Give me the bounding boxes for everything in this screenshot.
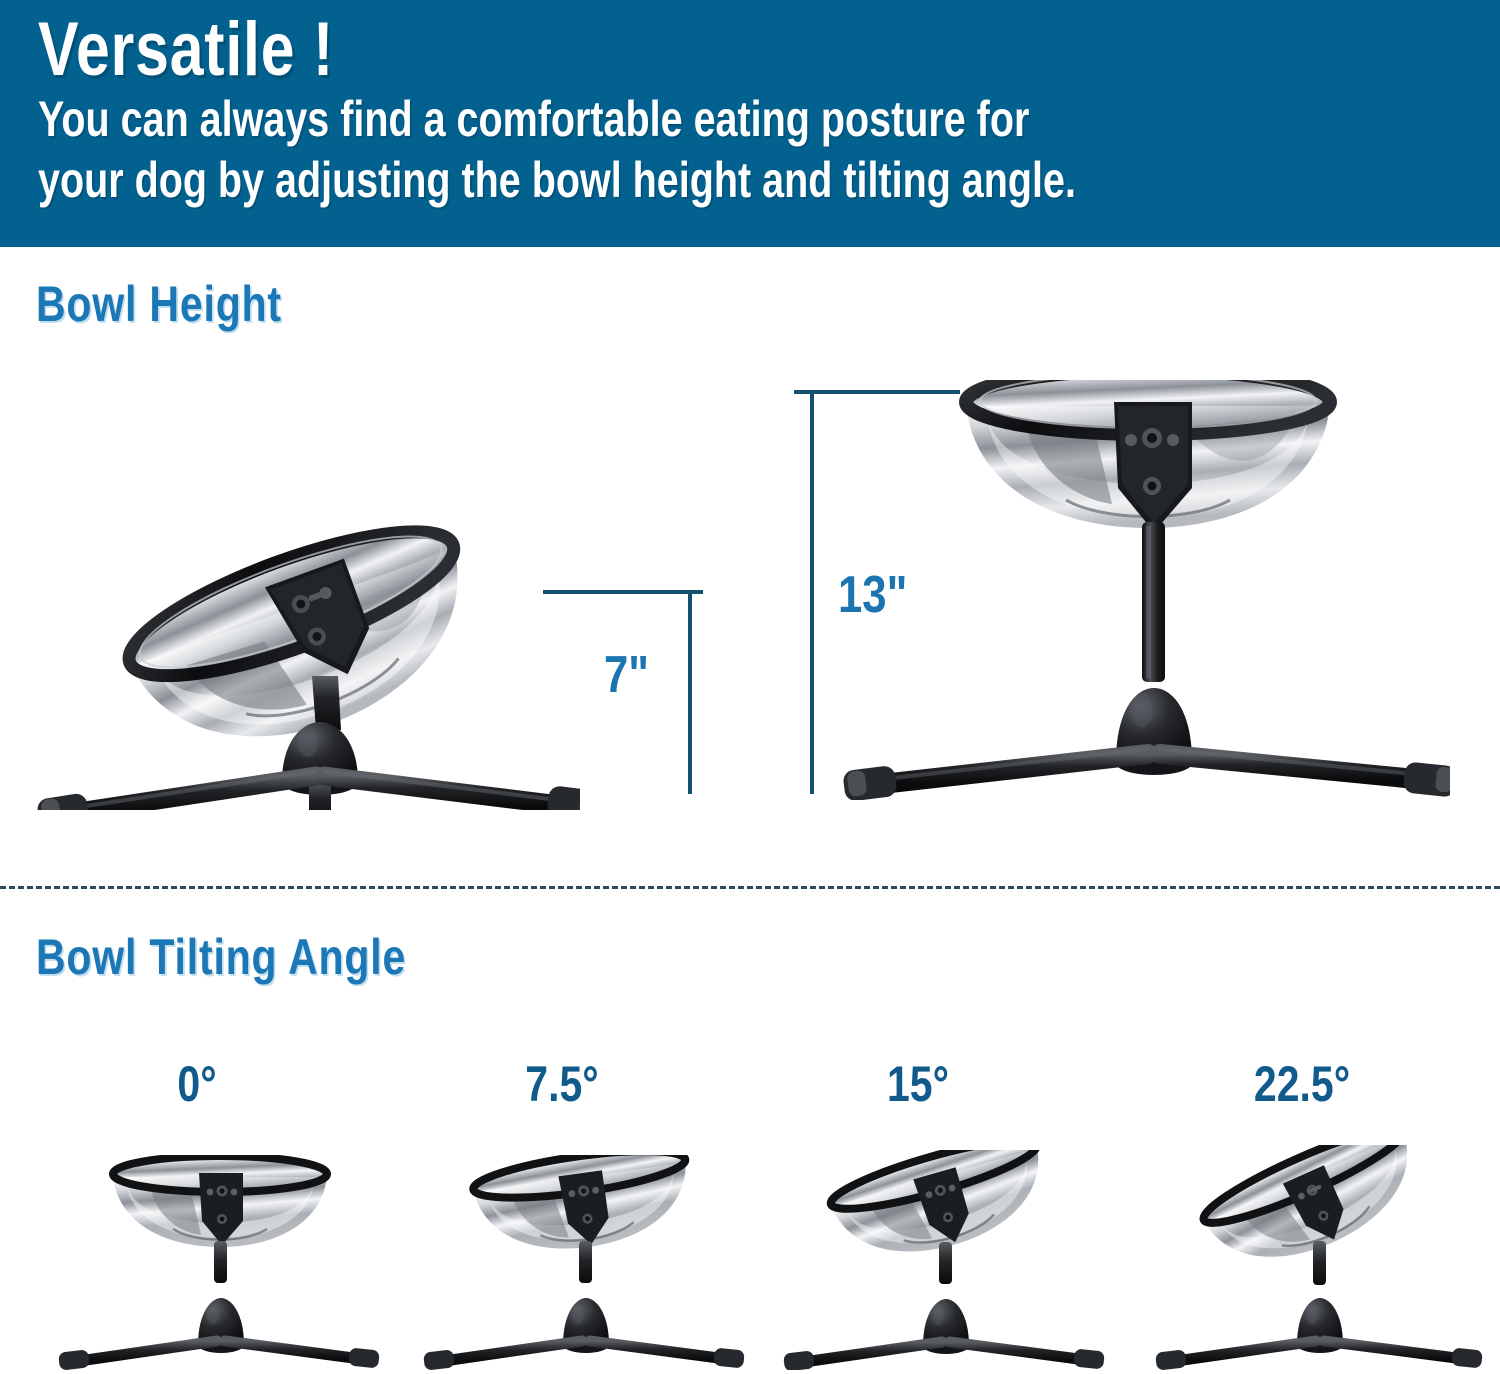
header-banner: Versatile ! You can always find a comfor…	[0, 0, 1500, 247]
tilt-figure-22-5deg	[1150, 1145, 1490, 1370]
bowl-stand-low-figure	[20, 430, 580, 810]
bowl-stand-high-figure	[830, 380, 1450, 800]
header-subtitle-line-1: You can always find a comfortable eating…	[38, 91, 1169, 148]
page-title: Versatile !	[38, 14, 1184, 87]
header-subtitle-line-2: your dog by adjusting the bowl height an…	[38, 152, 1169, 209]
angle-label-7-5: 7.5°	[480, 1055, 644, 1113]
section-divider	[0, 886, 1500, 889]
bowl-tilting-angle-heading: Bowl Tilting Angle	[36, 928, 406, 986]
angle-label-15: 15°	[836, 1055, 1000, 1113]
measure-label-7in: 7"	[604, 645, 649, 705]
angle-label-22-5: 22.5°	[1220, 1055, 1384, 1113]
tilt-figure-7-5deg	[420, 1155, 750, 1370]
tilt-figure-15deg	[780, 1150, 1110, 1370]
bowl-height-heading: Bowl Height	[36, 275, 282, 333]
tilt-figure-0deg	[55, 1155, 385, 1370]
measure-line-7in-horizontal	[543, 590, 703, 594]
measure-line-7in-vertical	[688, 590, 692, 794]
measure-line-13in-vertical	[810, 390, 814, 794]
angle-label-0: 0°	[115, 1055, 279, 1113]
